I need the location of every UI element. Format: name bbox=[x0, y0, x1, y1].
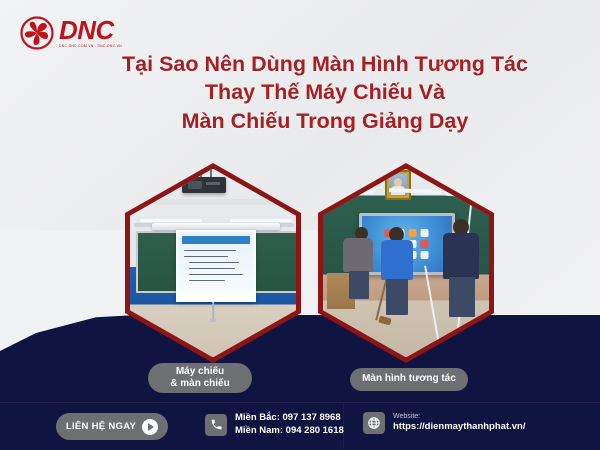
caption-projector: Máy chiếu & màn chiếu bbox=[148, 363, 252, 393]
website-block[interactable]: Website: https://dienmaythanhphat.vn/ bbox=[363, 412, 525, 434]
projection-screen bbox=[176, 230, 256, 302]
slide-line bbox=[189, 262, 239, 264]
phone-south: Miền Nam: 094 280 1618 bbox=[235, 425, 344, 438]
slide-line bbox=[184, 250, 236, 252]
wall-strip bbox=[130, 199, 296, 205]
install-cable-mid bbox=[424, 265, 439, 344]
website-text: Website: https://dienmaythanhphat.vn/ bbox=[393, 412, 525, 434]
person-left bbox=[341, 227, 375, 297]
ceiling-light-right bbox=[230, 219, 292, 222]
ceiling-light-left bbox=[140, 219, 202, 222]
phone-icon bbox=[205, 414, 227, 436]
app-icon bbox=[421, 229, 429, 237]
slide-line bbox=[184, 256, 228, 258]
projection-screen-housing bbox=[152, 223, 280, 230]
app-icon bbox=[421, 251, 429, 259]
person-legs bbox=[349, 271, 369, 299]
title-line-1: Tại Sao Nên Dùng Màn Hình Tương Tác bbox=[95, 50, 555, 78]
page-title: Tại Sao Nên Dùng Màn Hình Tương Tác Thay… bbox=[95, 50, 555, 135]
hexagon-interactive-panel-image bbox=[323, 169, 489, 358]
broom-head bbox=[378, 315, 391, 325]
logo-word: DNC bbox=[59, 17, 122, 43]
person-center bbox=[381, 227, 415, 315]
contact-cta-button[interactable]: LIÊN HỆ NGAY bbox=[56, 413, 168, 440]
wall-portrait-frame bbox=[385, 170, 411, 200]
phone-north: Miền Bắc: 097 137 8968 bbox=[235, 412, 344, 425]
person-torso bbox=[343, 238, 373, 272]
screen-pull-handle bbox=[210, 319, 216, 322]
slide-line bbox=[189, 280, 225, 282]
slide-content bbox=[178, 232, 254, 292]
contact-cta-label: LIÊN HỆ NGAY bbox=[66, 421, 136, 432]
website-url: https://dienmaythanhphat.vn/ bbox=[393, 421, 525, 434]
person-torso bbox=[381, 240, 413, 280]
phone-contact-block[interactable]: Miền Bắc: 097 137 8968 Miền Nam: 094 280… bbox=[205, 412, 344, 438]
website-label: Website: bbox=[393, 412, 525, 421]
ceiling-projector-icon bbox=[182, 177, 226, 193]
classroom-projector-photo bbox=[130, 169, 296, 358]
logo-tagline: DNC-DNC.COM.VN - DNC-DNC.VN bbox=[59, 45, 122, 48]
phone-text: Miền Bắc: 097 137 8968 Miền Nam: 094 280… bbox=[235, 412, 344, 438]
slide-title-bar bbox=[182, 236, 250, 244]
screen-pull-cord bbox=[212, 302, 214, 320]
person-legs bbox=[386, 279, 408, 315]
caption-interactive-panel-line1: Màn hình tương tác bbox=[362, 373, 456, 386]
person-right bbox=[443, 219, 481, 315]
slide-line bbox=[189, 274, 243, 276]
footer-divider bbox=[0, 402, 600, 403]
classroom-install-photo bbox=[323, 169, 489, 358]
play-icon bbox=[142, 419, 158, 435]
caption-projector-line1: Máy chiếu bbox=[176, 366, 224, 379]
person-torso bbox=[443, 233, 479, 279]
title-line-2: Thay Thế Máy Chiếu Và bbox=[95, 78, 555, 106]
brand-logo[interactable]: DNC DNC-DNC.COM.VN - DNC-DNC.VN bbox=[20, 12, 170, 54]
caption-projector-line2: & màn chiếu bbox=[170, 378, 229, 391]
pinwheel-icon bbox=[20, 16, 54, 50]
logo-wordmark: DNC DNC-DNC.COM.VN - DNC-DNC.VN bbox=[59, 17, 122, 48]
banner-canvas: DNC DNC-DNC.COM.VN - DNC-DNC.VN Tại Sao … bbox=[0, 0, 600, 450]
person-legs bbox=[449, 277, 475, 317]
title-line-3: Màn Chiếu Trong Giảng Dạy bbox=[95, 107, 555, 135]
slide-line bbox=[189, 268, 235, 270]
app-icon bbox=[421, 240, 429, 248]
globe-icon bbox=[363, 412, 385, 434]
hexagon-projector-image bbox=[130, 169, 296, 358]
caption-interactive-panel: Màn hình tương tác bbox=[350, 368, 468, 391]
